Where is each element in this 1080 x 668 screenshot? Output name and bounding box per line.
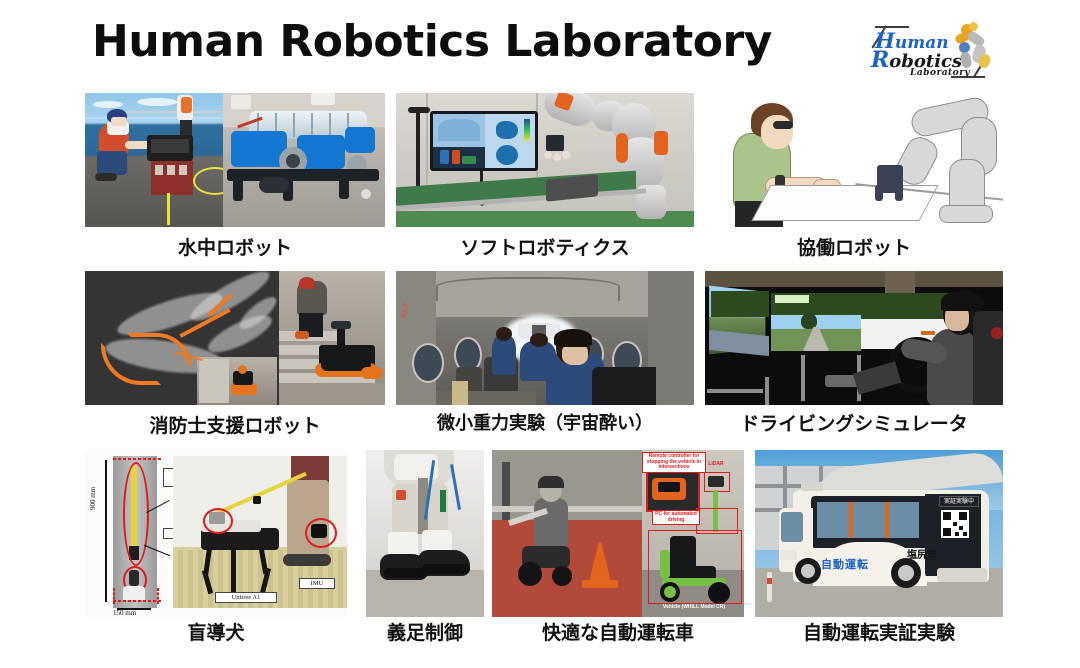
label-remote-controller: Remote controller for stopping the vehic…	[642, 452, 706, 473]
photo-guide-dog: 900 mm 150 mm aluminum pipe anti-slip gr…	[85, 450, 347, 617]
caption-driving-simulator: ドライビングシミュレータ	[705, 409, 1003, 436]
card-prosthetic-leg[interactable]: 義足制御	[366, 450, 484, 617]
photo-soft-robotics	[396, 93, 694, 227]
photo-autonomous-bus: 実証実験中 自動運転 塩尻市	[755, 450, 1003, 617]
card-microgravity[interactable]: EXIT 微小重力実験（宇宙酔い	[396, 271, 694, 405]
slide-root: Human Robotics Laboratory Human Robotics…	[0, 0, 1080, 668]
photo-firefighter-robot	[85, 271, 385, 405]
logo-line-laboratory: Laboratory	[910, 68, 970, 78]
dimension-height: 900 mm	[89, 487, 97, 510]
photo-underwater-robot	[85, 93, 385, 227]
caption-firefighter-robot: 消防士支援ロボット	[85, 411, 385, 438]
card-autonomous-bus[interactable]: 実証実験中 自動運転 塩尻市	[755, 450, 1003, 617]
caption-prosthetic-leg: 義足制御	[344, 618, 506, 645]
card-firefighter-robot[interactable]: 消防士支援ロボット	[85, 271, 385, 405]
card-collaborative-robot[interactable]: 協働ロボット	[705, 93, 1003, 227]
rear-banner-text: 実証実験中	[940, 496, 978, 505]
card-guide-dog[interactable]: 900 mm 150 mm aluminum pipe anti-slip gr…	[85, 450, 347, 617]
caption-autonomous-bus: 自動運転実証実験	[755, 618, 1003, 645]
card-underwater-robot[interactable]: 水中ロボット	[85, 93, 385, 227]
caption-microgravity: 微小重力実験（宇宙酔い）	[396, 409, 694, 435]
label-pc: PC for automated driving	[652, 510, 700, 525]
label-unitree: Unitree A1	[215, 592, 277, 603]
card-driving-simulator[interactable]: ドライビングシミュレータ	[705, 271, 1003, 405]
caption-guide-dog: 盲導犬	[85, 618, 347, 645]
photo-collaborative-robot	[705, 93, 1003, 227]
caption-underwater-robot: 水中ロボット	[85, 233, 385, 260]
caption-autonomous-wheelchair: 快適な自動運転車	[492, 618, 744, 645]
photo-prosthetic-leg	[366, 450, 484, 617]
bus-side-text: 自動運転	[821, 556, 869, 572]
dimension-width: 150 mm	[113, 609, 136, 617]
photo-microgravity: EXIT	[396, 271, 694, 405]
label-vehicle: Vehicle (WHILL Model CR)	[648, 605, 740, 611]
caption-collaborative-robot: 協働ロボット	[705, 233, 1003, 260]
photo-driving-simulator	[705, 271, 1003, 405]
photo-autonomous-wheelchair: Remote controller for stopping the vehic…	[492, 450, 744, 617]
label-imu: IMU	[299, 578, 335, 589]
card-soft-robotics[interactable]: ソフトロボティクス	[396, 93, 694, 227]
lab-logo: Human Robotics Laboratory	[863, 20, 996, 82]
card-autonomous-wheelchair[interactable]: Remote controller for stopping the vehic…	[492, 450, 744, 617]
caption-soft-robotics: ソフトロボティクス	[396, 233, 694, 260]
label-lidar: LiDAR	[698, 462, 734, 468]
page-title: Human Robotics Laboratory	[92, 19, 772, 65]
